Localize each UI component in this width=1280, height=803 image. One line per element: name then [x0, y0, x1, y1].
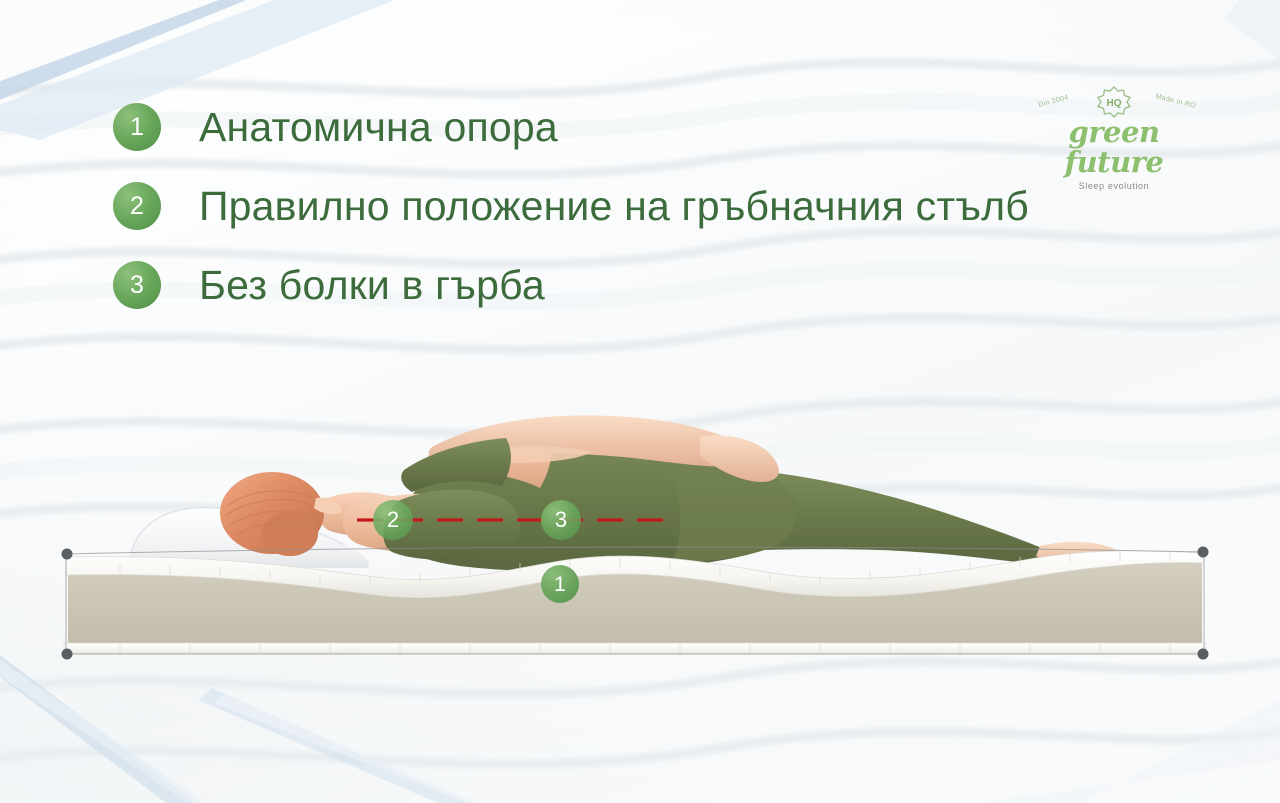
mattress-cross-section — [60, 543, 1210, 663]
feature-row-2: 2 Правилно положение на гръбначния стълб — [113, 176, 1113, 236]
feature-row-1: 1 Анатомична опора — [113, 97, 1113, 157]
hq-seal-label: HQ — [1107, 98, 1122, 109]
feature-label-3: Без болки в гърба — [199, 265, 545, 306]
image-marker-3: 3 — [541, 500, 581, 540]
feature-badge-1: 1 — [113, 103, 161, 151]
logo-seal-row: Din 2004 HQ Made in RO — [1030, 88, 1198, 118]
feature-label-1: Анатомична опора — [199, 107, 558, 148]
slide-canvas: 1 Анатомична опора 2 Правилно положение … — [0, 0, 1280, 803]
image-marker-2: 2 — [373, 500, 413, 540]
feature-label-2: Правилно положение на гръбначния стълб — [199, 186, 1029, 227]
corner-handle-bottom-left — [62, 649, 73, 660]
corner-handle-bottom-right — [1198, 649, 1209, 660]
mattress-bottom-cover — [64, 643, 1206, 654]
feature-row-3: 3 Без болки в гърба — [113, 255, 1113, 315]
feature-list: 1 Анатомична опора 2 Правилно положение … — [113, 97, 1113, 334]
corner-handle-top-right — [1198, 547, 1209, 558]
feature-badge-3: 3 — [113, 261, 161, 309]
corner-handle-top-left — [62, 549, 73, 560]
image-marker-1: 1 — [541, 565, 579, 603]
logo-din-text: Din 2004 — [1038, 94, 1070, 109]
logo-wordmark: green future — [1030, 117, 1198, 178]
brand-logo: Din 2004 HQ Made in RO green future Slee… — [1030, 88, 1198, 170]
logo-tagline: Sleep evolution — [1030, 181, 1198, 191]
logo-made-in-text: Made in RO — [1154, 93, 1196, 110]
feature-badge-2: 2 — [113, 182, 161, 230]
hq-seal-icon: HQ — [1093, 86, 1135, 118]
